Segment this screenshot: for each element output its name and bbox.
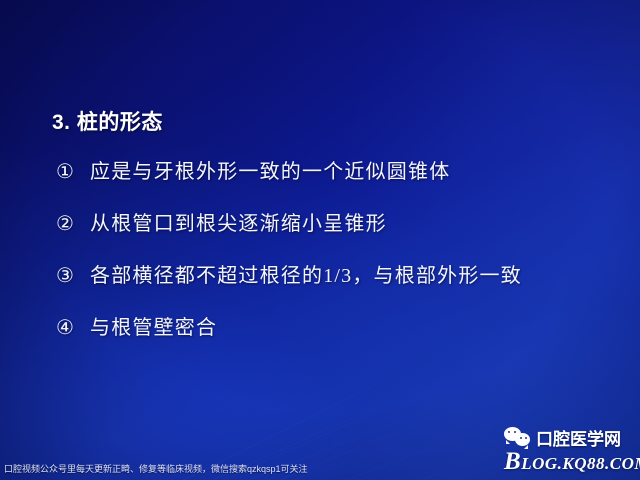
list-item: ① 应是与牙根外形一致的一个近似圆锥体 — [56, 155, 616, 207]
list-item: ② 从根管口到根尖逐渐缩小呈锥形 — [56, 207, 616, 259]
page-title: 3. 桩的形态 — [52, 106, 163, 136]
promo-caption: 口腔视频公众号里每天更新正畸、修复等临床视频，微信搜索qzkqsp1可关注 — [4, 462, 308, 475]
logo-site-name: 口腔医学网 — [536, 425, 621, 450]
site-logo[interactable]: 口腔医学网 BLOG.KQ88.COM — [504, 420, 636, 478]
wechat-icon — [504, 425, 534, 449]
bullet-marker: ④ — [56, 315, 90, 340]
presentation-slide: 3. 桩的形态 ① 应是与牙根外形一致的一个近似圆锥体 ② 从根管口到根尖逐渐缩… — [0, 0, 640, 480]
logo-url-initial: B — [504, 448, 521, 475]
bullet-text: 从根管口到根尖逐渐缩小呈锥形 — [90, 207, 387, 236]
logo-top-row: 口腔医学网 — [504, 424, 621, 450]
slide-content: 3. 桩的形态 ① 应是与牙根外形一致的一个近似圆锥体 ② 从根管口到根尖逐渐缩… — [0, 0, 640, 480]
logo-url-rest: LOG.KQ88.COM — [521, 454, 640, 473]
bullet-text: 各部横径都不超过根径的1/3，与根部外形一致 — [90, 259, 522, 288]
bullet-marker: ② — [56, 211, 90, 236]
bullet-text: 与根管壁密合 — [90, 311, 217, 340]
logo-url: BLOG.KQ88.COM — [504, 448, 640, 476]
bullet-text: 应是与牙根外形一致的一个近似圆锥体 — [90, 155, 450, 184]
list-item: ④ 与根管壁密合 — [56, 311, 616, 363]
list-item: ③ 各部横径都不超过根径的1/3，与根部外形一致 — [56, 259, 616, 311]
bullet-marker: ① — [56, 159, 90, 184]
bullet-list: ① 应是与牙根外形一致的一个近似圆锥体 ② 从根管口到根尖逐渐缩小呈锥形 ③ 各… — [56, 155, 616, 363]
bullet-marker: ③ — [56, 263, 90, 288]
